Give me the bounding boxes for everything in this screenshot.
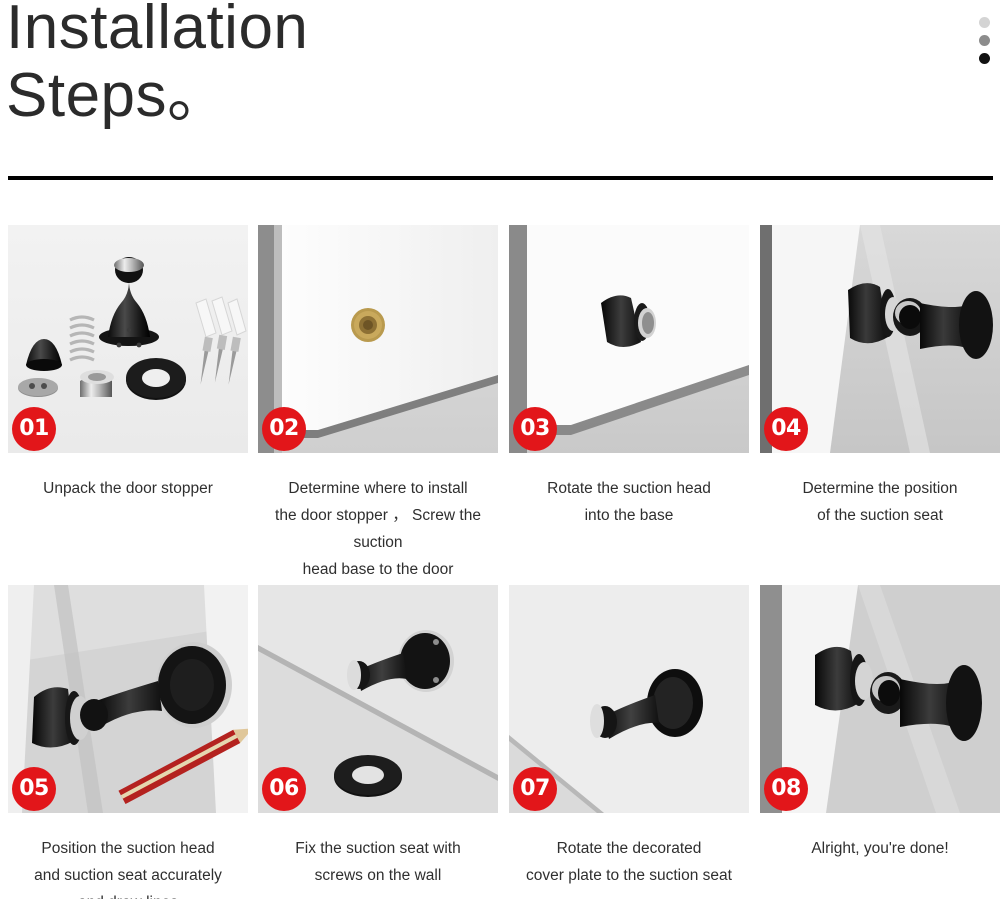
step-card-03: 03 Rotate the suction head into the base	[509, 225, 749, 529]
step-photo-05: 05	[8, 585, 248, 813]
step-card-08: 08 Alright, you're done!	[760, 585, 1000, 862]
step-card-01: 01 Unpack the door stopper	[8, 225, 248, 502]
step-badge: 06	[262, 767, 306, 811]
steps-row-2: 05 Position the suction head and suction…	[0, 585, 1001, 899]
step-photo-01: 01	[8, 225, 248, 453]
step-caption: Fix the suction seat with screws on the …	[258, 835, 498, 889]
step-photo-07: 07	[509, 585, 749, 813]
step-caption: Rotate the decorated cover plate to the …	[509, 835, 749, 889]
step-caption: Rotate the suction head into the base	[509, 475, 749, 529]
step-caption: Unpack the door stopper	[8, 475, 248, 502]
step-badge: 01	[12, 407, 56, 451]
step-card-07: 07 Rotate the decorated cover plate to t…	[509, 585, 749, 889]
step-photo-02: 02	[258, 225, 498, 453]
step-caption: Alright, you're done!	[760, 835, 1000, 862]
pager-dot-1[interactable]	[979, 17, 990, 28]
step-caption: Determine the position of the suction se…	[760, 475, 1000, 529]
step-card-02: 02 Determine where to install the door s…	[258, 225, 498, 583]
step-card-06: 06 Fix the suction seat with screws on t…	[258, 585, 498, 889]
step-photo-04: 04	[760, 225, 1000, 453]
step-card-04: 04 Determine the position of the suction…	[760, 225, 1000, 529]
step-badge: 08	[764, 767, 808, 811]
step-caption: Position the suction head and suction se…	[8, 835, 248, 899]
step-badge: 03	[513, 407, 557, 451]
step-caption: Determine where to install the door stop…	[258, 475, 498, 583]
title-divider	[8, 176, 993, 180]
step-photo-08: 08	[760, 585, 1000, 813]
step-badge: 02	[262, 407, 306, 451]
pager-dot-3[interactable]	[979, 53, 990, 64]
page-title: Installation Steps。	[6, 0, 706, 130]
step-badge: 04	[764, 407, 808, 451]
pager-dot-2[interactable]	[979, 35, 990, 46]
step-photo-06: 06	[258, 585, 498, 813]
steps-row-1: 01 Unpack the door stopper	[0, 225, 1001, 585]
steps-grid: 01 Unpack the door stopper	[0, 225, 1001, 899]
step-badge: 07	[513, 767, 557, 811]
installation-steps-page: Installation Steps。	[0, 0, 1001, 899]
step-photo-03: 03	[509, 225, 749, 453]
pager-dots	[979, 17, 993, 71]
step-card-05: 05 Position the suction head and suction…	[8, 585, 248, 899]
page-header: Installation Steps。	[0, 0, 1001, 200]
step-badge: 05	[12, 767, 56, 811]
